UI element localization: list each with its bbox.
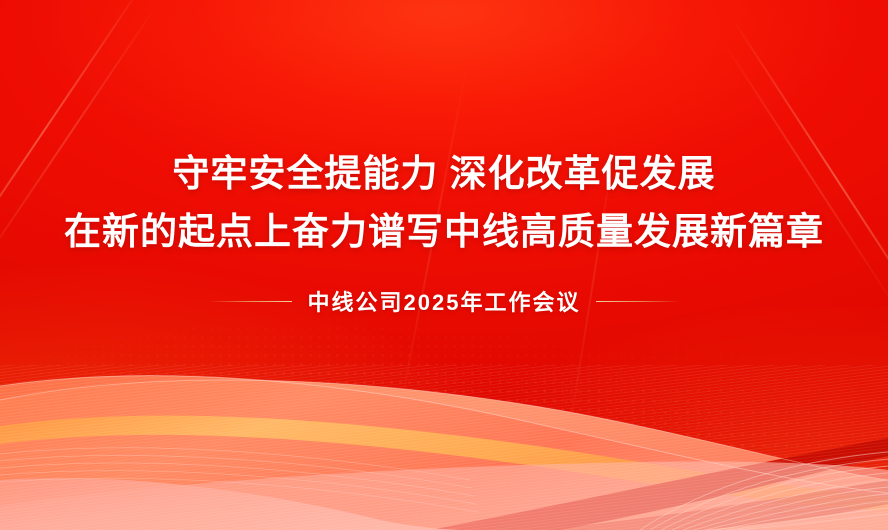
- poster-title-line-2: 在新的起点上奋力谱写中线高质量发展新篇章: [64, 210, 824, 254]
- poster-subtitle-row: 中线公司2025年工作会议: [208, 285, 681, 317]
- conference-poster: 守牢安全提能力 深化改革促发展 在新的起点上奋力谱写中线高质量发展新篇章 中线公…: [0, 0, 888, 530]
- poster-subtitle: 中线公司2025年工作会议: [308, 285, 581, 317]
- poster-title-line-1: 守牢安全提能力 深化改革促发展: [172, 152, 715, 196]
- poster-content: 守牢安全提能力 深化改革促发展 在新的起点上奋力谱写中线高质量发展新篇章 中线公…: [0, 0, 888, 530]
- divider-rule-left: [208, 301, 292, 302]
- divider-rule-right: [596, 301, 680, 302]
